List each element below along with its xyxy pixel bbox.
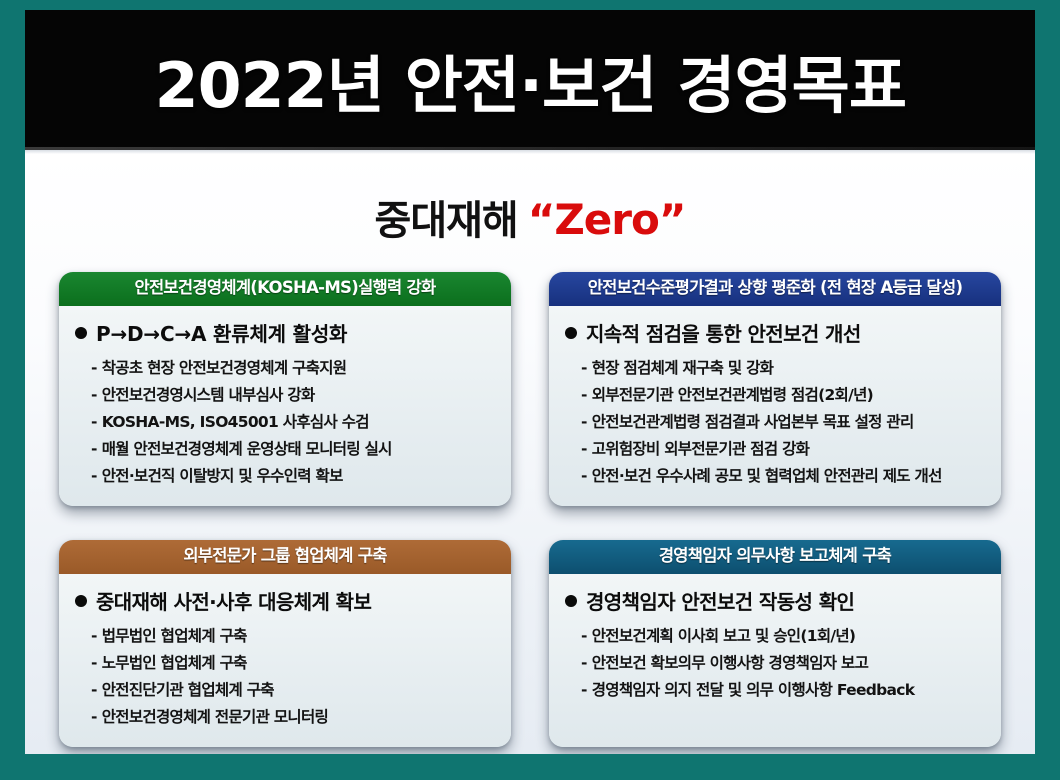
list-item: -고위험장비 외부전문기관 점검 강화	[565, 436, 985, 463]
dash-marker: -	[581, 411, 587, 433]
list-item-label: 안전보건관계법령 점검결과 사업본부 목표 설정 관리	[592, 411, 914, 433]
poster-body: 중대재해“Zero” 안전보건경영체계(KOSHA-MS)실행력 강화 P→D→…	[25, 150, 1035, 754]
dash-marker: -	[581, 625, 587, 647]
list-item-label: 안전진단기관 협업체계 구축	[102, 679, 274, 701]
card-main-point: P→D→C→A 환류체계 활성화	[75, 318, 495, 355]
dash-marker: -	[91, 706, 97, 728]
bullet-dot-icon	[565, 595, 577, 607]
dash-marker: -	[581, 652, 587, 674]
dash-marker: -	[91, 465, 97, 487]
card-header-kosha-ms: 안전보건경영체계(KOSHA-MS)실행력 강화	[59, 272, 511, 306]
card-main-point-text: 지속적 점검을 통한 안전보건 개선	[586, 318, 861, 347]
goal-card-level-evaluation: 안전보건수준평가결과 상향 평준화 (전 현장 A등급 달성) 지속적 점검을 …	[549, 272, 1001, 506]
list-item-label: 안전보건 확보의무 이행사항 경영책임자 보고	[592, 652, 868, 674]
list-item-label: 착공초 현장 안전보건경영체계 구축지원	[102, 357, 347, 379]
card-sub-list: -현장 점검체계 재구축 및 강화 -외부전문기관 안전보건관계법령 점검(2회…	[565, 355, 985, 490]
card-main-point-text: 중대재해 사전·사후 대응체계 확보	[96, 586, 371, 615]
slogan-zero: “Zero”	[528, 195, 686, 244]
list-item-label: 경영책임자 의지 전달 및 의무 이행사항 Feedback	[592, 679, 915, 701]
dash-marker: -	[581, 465, 587, 487]
card-body-ceo-reporting: 경영책임자 안전보건 작동성 확인 -안전보건계획 이사회 보고 및 승인(1회…	[549, 574, 1001, 747]
list-item-label: 매월 안전보건경영체계 운영상태 모니터링 실시	[102, 438, 392, 460]
dash-marker: -	[91, 679, 97, 701]
page-title: 2022년 안전·보건 경영목표	[154, 35, 905, 125]
list-item: -노무법인 협업체계 구축	[75, 650, 495, 677]
dash-marker: -	[581, 438, 587, 460]
slogan: 중대재해“Zero”	[59, 168, 1001, 272]
list-item: -착공초 현장 안전보건경영체계 구축지원	[75, 355, 495, 382]
list-item: -안전보건경영시스템 내부심사 강화	[75, 382, 495, 409]
dash-marker: -	[91, 438, 97, 460]
list-item: -매월 안전보건경영체계 운영상태 모니터링 실시	[75, 436, 495, 463]
goal-card-grid: 안전보건경영체계(KOSHA-MS)실행력 강화 P→D→C→A 환류체계 활성…	[59, 272, 1001, 747]
poster-root: 2022년 안전·보건 경영목표 중대재해“Zero” 안전보건경영체계(KOS…	[0, 0, 1060, 780]
list-item: -안전보건계획 이사회 보고 및 승인(1회/년)	[565, 623, 985, 650]
list-item-label: 안전·보건 우수사례 공모 및 협력업체 안전관리 제도 개선	[592, 465, 942, 487]
list-item-label: 현장 점검체계 재구축 및 강화	[592, 357, 774, 379]
card-main-point-text: 경영책임자 안전보건 작동성 확인	[586, 586, 854, 615]
card-header-ceo-reporting: 경영책임자 의무사항 보고체계 구축	[549, 540, 1001, 574]
list-item-label: 고위험장비 외부전문기관 점검 강화	[592, 438, 810, 460]
list-item: -안전보건경영체계 전문기관 모니터링	[75, 704, 495, 731]
card-sub-list: -법무법인 협업체계 구축 -노무법인 협업체계 구축 -안전진단기관 협업체계…	[75, 623, 495, 731]
card-sub-list: -안전보건계획 이사회 보고 및 승인(1회/년) -안전보건 확보의무 이행사…	[565, 623, 985, 704]
dash-marker: -	[581, 357, 587, 379]
list-item: -안전·보건 우수사례 공모 및 협력업체 안전관리 제도 개선	[565, 463, 985, 490]
list-item-label: 안전·보건직 이탈방지 및 우수인력 확보	[102, 465, 343, 487]
list-item: -경영책임자 의지 전달 및 의무 이행사항 Feedback	[565, 677, 985, 704]
list-item-label: 노무법인 협업체계 구축	[102, 652, 247, 674]
dash-marker: -	[581, 679, 587, 701]
list-item-label: 법무법인 협업체계 구축	[102, 625, 247, 647]
list-item: -법무법인 협업체계 구축	[75, 623, 495, 650]
card-main-point: 중대재해 사전·사후 대응체계 확보	[75, 586, 495, 623]
dash-marker: -	[91, 652, 97, 674]
bullet-dot-icon	[565, 327, 577, 339]
list-item-label: 안전보건경영체계 전문기관 모니터링	[102, 706, 328, 728]
dash-marker: -	[91, 411, 97, 433]
card-body-level-evaluation: 지속적 점검을 통한 안전보건 개선 -현장 점검체계 재구축 및 강화 -외부…	[549, 306, 1001, 506]
card-header-level-evaluation: 안전보건수준평가결과 상향 평준화 (전 현장 A등급 달성)	[549, 272, 1001, 306]
bullet-dot-icon	[75, 595, 87, 607]
card-sub-list: -착공초 현장 안전보건경영체계 구축지원 -안전보건경영시스템 내부심사 강화…	[75, 355, 495, 490]
list-item-label: 안전보건계획 이사회 보고 및 승인(1회/년)	[592, 625, 856, 647]
card-header-expert-collaboration: 외부전문가 그룹 협업체계 구축	[59, 540, 511, 574]
card-body-kosha-ms: P→D→C→A 환류체계 활성화 -착공초 현장 안전보건경영체계 구축지원 -…	[59, 306, 511, 506]
list-item: -현장 점검체계 재구축 및 강화	[565, 355, 985, 382]
bullet-dot-icon	[75, 327, 87, 339]
list-item: -안전·보건직 이탈방지 및 우수인력 확보	[75, 463, 495, 490]
list-item: -안전보건 확보의무 이행사항 경영책임자 보고	[565, 650, 985, 677]
list-item-label: 안전보건경영시스템 내부심사 강화	[102, 384, 315, 406]
list-item-label: KOSHA-MS, ISO45001 사후심사 수검	[102, 411, 369, 433]
list-item: -안전진단기관 협업체계 구축	[75, 677, 495, 704]
dash-marker: -	[91, 357, 97, 379]
dash-marker: -	[91, 384, 97, 406]
dash-marker: -	[581, 384, 587, 406]
card-body-expert-collaboration: 중대재해 사전·사후 대응체계 확보 -법무법인 협업체계 구축 -노무법인 협…	[59, 574, 511, 747]
title-banner: 2022년 안전·보건 경영목표	[25, 10, 1035, 150]
slogan-korean: 중대재해	[375, 198, 518, 244]
list-item: -외부전문기관 안전보건관계법령 점검(2회/년)	[565, 382, 985, 409]
goal-card-kosha-ms: 안전보건경영체계(KOSHA-MS)실행력 강화 P→D→C→A 환류체계 활성…	[59, 272, 511, 506]
card-main-point: 경영책임자 안전보건 작동성 확인	[565, 586, 985, 623]
goal-card-expert-collaboration: 외부전문가 그룹 협업체계 구축 중대재해 사전·사후 대응체계 확보 -법무법…	[59, 540, 511, 747]
goal-card-ceo-reporting: 경영책임자 의무사항 보고체계 구축 경영책임자 안전보건 작동성 확인 -안전…	[549, 540, 1001, 747]
card-main-point-text: P→D→C→A 환류체계 활성화	[96, 318, 347, 347]
dash-marker: -	[91, 625, 97, 647]
card-main-point: 지속적 점검을 통한 안전보건 개선	[565, 318, 985, 355]
list-item-label: 외부전문기관 안전보건관계법령 점검(2회/년)	[592, 384, 873, 406]
list-item: -KOSHA-MS, ISO45001 사후심사 수검	[75, 409, 495, 436]
list-item: -안전보건관계법령 점검결과 사업본부 목표 설정 관리	[565, 409, 985, 436]
